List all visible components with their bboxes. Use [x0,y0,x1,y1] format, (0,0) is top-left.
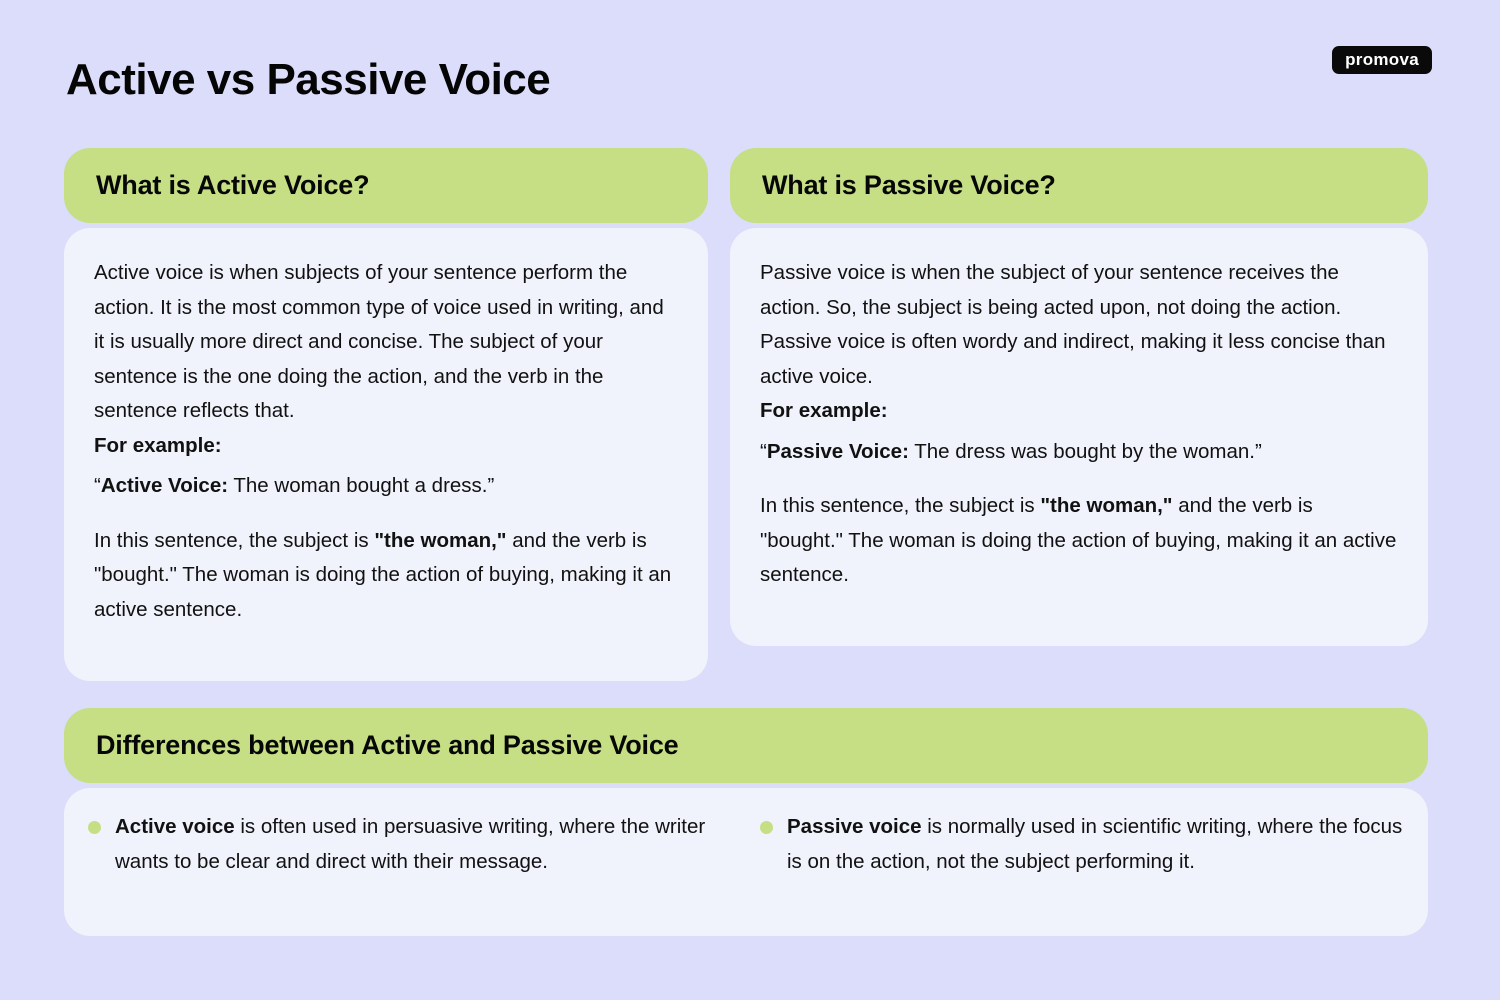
active-voice-example: “Active Voice: The woman bought a dress.… [94,469,678,504]
list-item: Passive voice is normally used in scient… [760,810,1404,879]
bullet-dot-icon [760,821,773,834]
difference-active-label: Active voice [115,815,235,838]
difference-passive-text: Passive voice is normally used in scient… [787,810,1404,879]
passive-example-open-quote: “ [760,440,767,463]
section-header-differences: Differences between Active and Passive V… [64,708,1428,783]
active-voice-explanation: In this sentence, the subject is "the wo… [94,524,678,628]
difference-active-text: Active voice is often used in persuasive… [115,810,732,879]
passive-explanation-part1: In this sentence, the subject is [760,494,1040,517]
active-voice-description: Active voice is when subjects of your se… [94,256,678,429]
passive-example-label: Passive Voice: [767,440,909,463]
section-header-active-voice-label: What is Active Voice? [96,170,369,201]
page-title: Active vs Passive Voice [66,56,550,104]
card-passive-voice: Passive voice is when the subject of you… [730,228,1428,646]
section-header-active-voice: What is Active Voice? [64,148,708,223]
active-explanation-subject: "the woman," [374,529,506,552]
promova-logo: promova [1332,46,1432,74]
passive-voice-explanation: In this sentence, the subject is "the wo… [760,489,1398,593]
active-example-open-quote: “ [94,474,101,497]
card-active-voice: Active voice is when subjects of your se… [64,228,708,681]
difference-passive-label: Passive voice [787,815,922,838]
spacer [760,469,1398,489]
active-example-sentence: The woman bought a dress.” [228,474,494,497]
passive-voice-for-example-label: For example: [760,394,1398,429]
section-header-differences-label: Differences between Active and Passive V… [96,730,678,761]
infographic-page: Active vs Passive Voice promova What is … [0,0,1500,1000]
list-item: Active voice is often used in persuasive… [88,810,732,879]
card-differences: Active voice is often used in persuasive… [64,788,1428,936]
section-header-passive-voice: What is Passive Voice? [730,148,1428,223]
active-for-example-bold: For example: [94,434,222,457]
spacer [94,504,678,524]
passive-for-example-bold: For example: [760,399,888,422]
active-example-label: Active Voice: [101,474,228,497]
active-explanation-part1: In this sentence, the subject is [94,529,374,552]
bullet-dot-icon [88,821,101,834]
section-header-passive-voice-label: What is Passive Voice? [762,170,1056,201]
passive-example-sentence: The dress was bought by the woman.” [909,440,1262,463]
active-voice-for-example-label: For example: [94,429,678,464]
passive-explanation-subject: "the woman," [1040,494,1172,517]
passive-voice-example: “Passive Voice: The dress was bought by … [760,435,1398,470]
passive-voice-description: Passive voice is when the subject of you… [760,256,1398,394]
